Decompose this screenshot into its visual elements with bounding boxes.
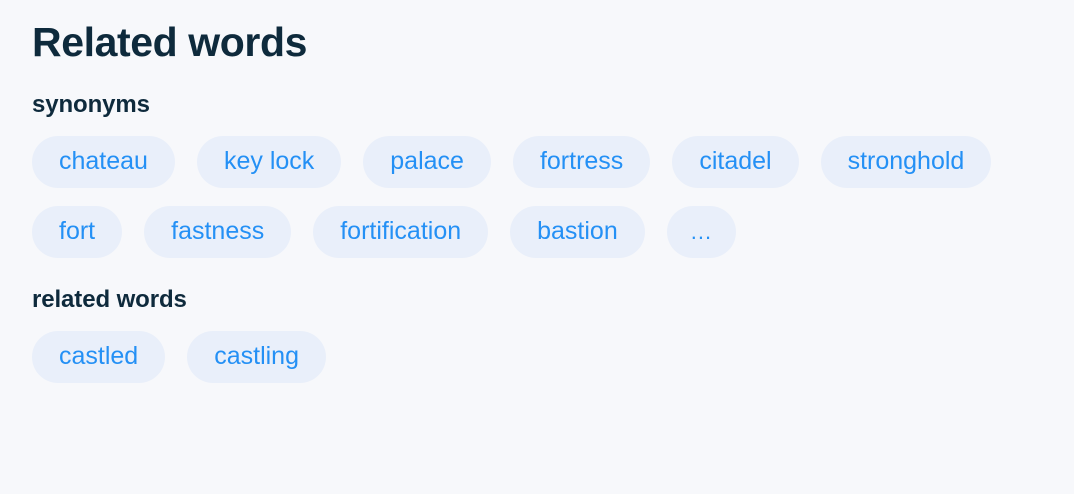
synonym-chip-stronghold[interactable]: stronghold [821, 136, 992, 188]
synonym-chip-citadel[interactable]: citadel [672, 136, 798, 188]
synonym-chip-more[interactable]: ... [667, 206, 736, 258]
synonym-chip-key-lock[interactable]: key lock [197, 136, 341, 188]
related-words-chip-list: castled castling [32, 331, 1054, 383]
synonym-chip-fort[interactable]: fort [32, 206, 122, 258]
page-title: Related words [32, 18, 1054, 67]
related-word-chip-castling[interactable]: castling [187, 331, 326, 383]
related-words-panel: Related words synonyms chateau key lock … [0, 0, 1074, 494]
synonym-chip-chateau[interactable]: chateau [32, 136, 175, 188]
synonym-chip-fortification[interactable]: fortification [313, 206, 488, 258]
section-related-words: related words castled castling [32, 286, 1054, 383]
section-label-related-words: related words [32, 286, 1054, 315]
section-label-synonyms: synonyms [32, 91, 1054, 120]
synonym-chip-fastness[interactable]: fastness [144, 206, 291, 258]
section-synonyms: synonyms chateau key lock palace fortres… [32, 91, 1054, 258]
related-word-chip-castled[interactable]: castled [32, 331, 165, 383]
synonym-chip-palace[interactable]: palace [363, 136, 491, 188]
synonyms-chip-list: chateau key lock palace fortress citadel… [32, 136, 1054, 258]
synonym-chip-bastion[interactable]: bastion [510, 206, 645, 258]
synonym-chip-fortress[interactable]: fortress [513, 136, 650, 188]
